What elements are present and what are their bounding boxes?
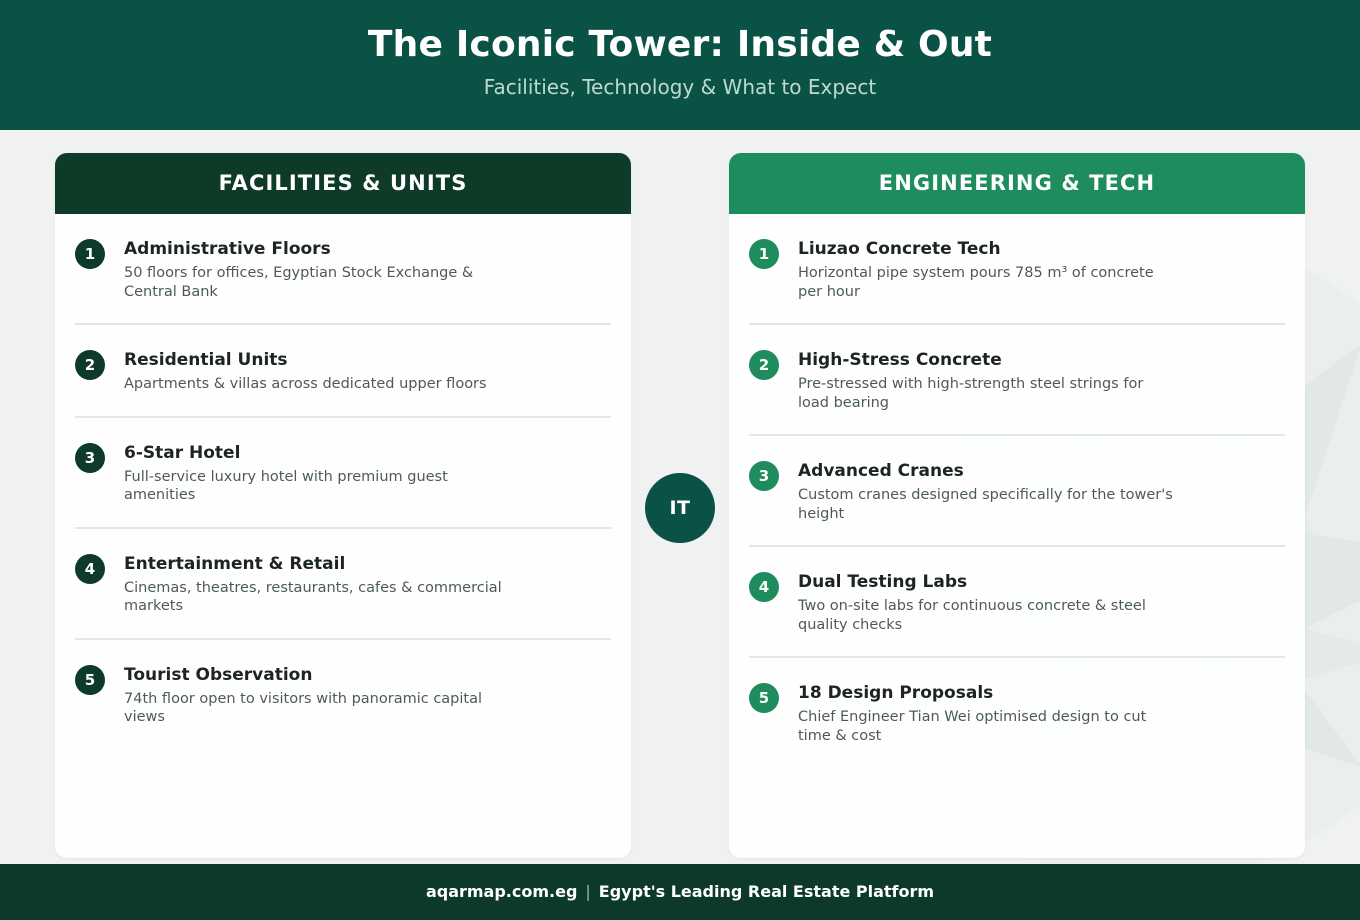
item-number-badge: 3 xyxy=(749,461,779,491)
list-item[interactable]: 5 Tourist Observation 74th floor open to… xyxy=(75,638,611,749)
item-number-badge: 5 xyxy=(75,665,105,695)
item-title: Dual Testing Labs xyxy=(798,571,1285,593)
engineering-list: 1 Liuzao Concrete Tech Horizontal pipe s… xyxy=(729,214,1305,767)
page-footer: aqarmap.com.eg|Egypt's Leading Real Esta… xyxy=(0,864,1360,920)
engineering-card-header: ENGINEERING & TECH xyxy=(729,153,1305,214)
list-item[interactable]: 4 Dual Testing Labs Two on-site labs for… xyxy=(749,545,1285,656)
item-text: 18 Design Proposals Chief Engineer Tian … xyxy=(798,682,1285,745)
item-text: High-Stress Concrete Pre-stressed with h… xyxy=(798,349,1285,412)
footer-separator: | xyxy=(577,882,598,901)
item-text: Administrative Floors 50 floors for offi… xyxy=(124,238,611,301)
item-title: 18 Design Proposals xyxy=(798,682,1285,704)
center-hub-badge: IT xyxy=(645,473,715,543)
facilities-list: 1 Administrative Floors 50 floors for of… xyxy=(55,214,631,749)
item-title: Entertainment & Retail xyxy=(124,553,611,575)
page-subtitle: Facilities, Technology & What to Expect xyxy=(0,68,1360,100)
item-number-badge: 1 xyxy=(749,239,779,269)
item-number-badge: 4 xyxy=(749,572,779,602)
engineering-card: ENGINEERING & TECH 1 Liuzao Concrete Tec… xyxy=(729,153,1305,858)
page-title: The Iconic Tower: Inside & Out xyxy=(0,0,1360,68)
list-item[interactable]: 3 Advanced Cranes Custom cranes designed… xyxy=(749,434,1285,545)
item-text: Entertainment & Retail Cinemas, theatres… xyxy=(124,553,611,616)
item-description: Two on-site labs for continuous concrete… xyxy=(798,597,1178,634)
item-title: Tourist Observation xyxy=(124,664,611,686)
page-header: The Iconic Tower: Inside & Out Facilitie… xyxy=(0,0,1360,130)
item-description: 50 floors for offices, Egyptian Stock Ex… xyxy=(124,264,504,301)
item-text: Residential Units Apartments & villas ac… xyxy=(124,349,611,394)
item-title: Residential Units xyxy=(124,349,611,371)
list-item[interactable]: 3 6-Star Hotel Full-service luxury hotel… xyxy=(75,416,611,527)
item-title: Advanced Cranes xyxy=(798,460,1285,482)
item-title: Administrative Floors xyxy=(124,238,611,260)
item-text: Liuzao Concrete Tech Horizontal pipe sys… xyxy=(798,238,1285,301)
item-text: Dual Testing Labs Two on-site labs for c… xyxy=(798,571,1285,634)
item-number-badge: 4 xyxy=(75,554,105,584)
list-item[interactable]: 2 Residential Units Apartments & villas … xyxy=(75,323,611,416)
item-description: Custom cranes designed specifically for … xyxy=(798,486,1178,523)
footer-site[interactable]: aqarmap.com.eg xyxy=(426,882,577,901)
item-description: Horizontal pipe system pours 785 m³ of c… xyxy=(798,264,1178,301)
list-item[interactable]: 2 High-Stress Concrete Pre-stressed with… xyxy=(749,323,1285,434)
footer-tagline: Egypt's Leading Real Estate Platform xyxy=(599,882,934,901)
item-number-badge: 3 xyxy=(75,443,105,473)
facilities-card-header: FACILITIES & UNITS xyxy=(55,153,631,214)
item-title: Liuzao Concrete Tech xyxy=(798,238,1285,260)
list-item[interactable]: 4 Entertainment & Retail Cinemas, theatr… xyxy=(75,527,611,638)
item-text: Tourist Observation 74th floor open to v… xyxy=(124,664,611,727)
item-description: Chief Engineer Tian Wei optimised design… xyxy=(798,708,1178,745)
item-number-badge: 1 xyxy=(75,239,105,269)
item-number-badge: 2 xyxy=(749,350,779,380)
item-number-badge: 2 xyxy=(75,350,105,380)
item-description: Cinemas, theatres, restaurants, cafes & … xyxy=(124,579,504,616)
facilities-card: FACILITIES & UNITS 1 Administrative Floo… xyxy=(55,153,631,858)
item-description: 74th floor open to visitors with panoram… xyxy=(124,690,504,727)
item-description: Apartments & villas across dedicated upp… xyxy=(124,375,504,394)
item-description: Full-service luxury hotel with premium g… xyxy=(124,468,504,505)
item-text: Advanced Cranes Custom cranes designed s… xyxy=(798,460,1285,523)
item-number-badge: 5 xyxy=(749,683,779,713)
item-text: 6-Star Hotel Full-service luxury hotel w… xyxy=(124,442,611,505)
list-item[interactable]: 1 Administrative Floors 50 floors for of… xyxy=(75,214,611,323)
list-item[interactable]: 1 Liuzao Concrete Tech Horizontal pipe s… xyxy=(749,214,1285,323)
item-title: High-Stress Concrete xyxy=(798,349,1285,371)
item-title: 6-Star Hotel xyxy=(124,442,611,464)
item-description: Pre-stressed with high-strength steel st… xyxy=(798,375,1178,412)
list-item[interactable]: 5 18 Design Proposals Chief Engineer Tia… xyxy=(749,656,1285,767)
